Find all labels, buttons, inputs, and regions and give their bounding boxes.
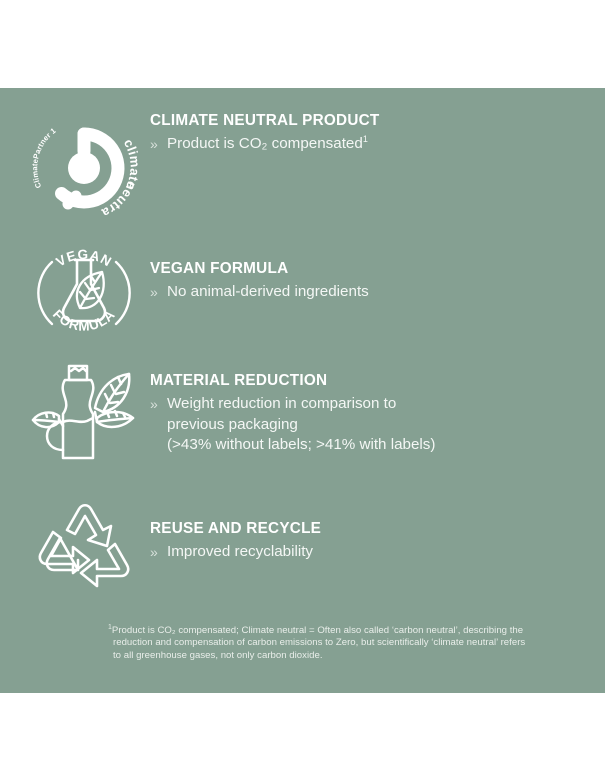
- bullet-marker-icon: »: [150, 542, 167, 563]
- claim-bullet: » Weight reduction in comparison to prev…: [150, 394, 435, 456]
- claim-row-vegan-formula: VEGAN FORMULA VEGAN FORMULA » No animal-…: [0, 236, 605, 348]
- climate-neutral-certificate-icon: ClimatePartner 14717-2005-1001 climate n…: [26, 110, 142, 226]
- climate-partner-id-text: ClimatePartner 14717-2005-1001: [26, 110, 58, 190]
- footnote-reference: 1: [363, 134, 368, 144]
- claim-bullet-text-line-2: previous packaging: [167, 415, 435, 436]
- claim-bullet-text-line-3: (>43% without labels; >41% with labels): [167, 435, 435, 456]
- claim-bullet: » Improved recyclability: [150, 542, 321, 563]
- claim-bullet-body: Improved recyclability: [167, 542, 313, 563]
- claim-row-reuse-recycle: REUSE AND RECYCLE » Improved recyclabili…: [0, 500, 605, 596]
- claim-bullet-body: Product is CO₂ compensated1: [167, 134, 368, 155]
- footnote-line-2: reduction and compensation of carbon emi…: [108, 637, 570, 649]
- claim-heading: CLIMATE NEUTRAL PRODUCT: [150, 112, 380, 130]
- sustainability-claims-panel: ClimatePartner 14717-2005-1001 climate n…: [0, 88, 605, 693]
- icon-cell-climate-neutral: ClimatePartner 14717-2005-1001 climate n…: [0, 110, 150, 226]
- claim-bullet-body: No animal-derived ingredients: [167, 282, 369, 303]
- text-cell-reuse-recycle: REUSE AND RECYCLE » Improved recyclabili…: [150, 500, 321, 563]
- text-cell-climate-neutral: CLIMATE NEUTRAL PRODUCT » Product is CO₂…: [150, 110, 380, 155]
- claim-bullet-text-line-1: Weight reduction in comparison to: [167, 394, 435, 415]
- vegan-arc-text: VEGAN: [53, 247, 114, 270]
- bullet-marker-icon: »: [150, 282, 167, 303]
- claim-heading: REUSE AND RECYCLE: [150, 520, 321, 538]
- recycling-triangle-icon: [29, 500, 139, 596]
- footnote-line-1: 1Product is CO₂ compensated; Climate neu…: [108, 625, 570, 637]
- claim-heading: VEGAN FORMULA: [150, 260, 369, 278]
- svg-text:ClimatePartner 14717-2005-1001: ClimatePartner 14717-2005-1001: [26, 110, 58, 190]
- svg-text:VEGAN: VEGAN: [53, 247, 114, 270]
- claim-bullet-text: No animal-derived ingredients: [167, 283, 369, 300]
- svg-text:FORMULA: FORMULA: [50, 307, 118, 334]
- claim-bullet-text: Product is CO₂ compensated: [167, 135, 363, 152]
- claim-bullet-body: Weight reduction in comparison to previo…: [167, 394, 435, 456]
- vegan-formula-flask-icon: VEGAN FORMULA: [28, 236, 140, 348]
- claim-row-material-reduction: MATERIAL REDUCTION » Weight reduction in…: [0, 360, 605, 468]
- claim-bullet: » No animal-derived ingredients: [150, 282, 369, 303]
- icon-cell-reuse-recycle: [0, 500, 150, 596]
- text-cell-material-reduction: MATERIAL REDUCTION » Weight reduction in…: [150, 360, 435, 456]
- bullet-marker-icon: »: [150, 394, 167, 456]
- claim-bullet-text: Improved recyclability: [167, 543, 313, 560]
- icon-cell-vegan-formula: VEGAN FORMULA: [0, 236, 150, 348]
- claim-row-climate-neutral: ClimatePartner 14717-2005-1001 climate n…: [0, 110, 605, 226]
- bullet-marker-icon: »: [150, 134, 167, 155]
- footnote-line-1-text: Product is CO₂ compensated; Climate neut…: [112, 625, 523, 636]
- icon-cell-material-reduction: [0, 360, 150, 468]
- text-cell-vegan-formula: VEGAN FORMULA » No animal-derived ingred…: [150, 236, 369, 303]
- formula-arc-text: FORMULA: [50, 307, 118, 334]
- claim-bullet: » Product is CO₂ compensated1: [150, 134, 380, 155]
- bottle-with-leaves-icon: [25, 360, 143, 468]
- footnote-block: 1Product is CO₂ compensated; Climate neu…: [108, 625, 570, 662]
- claim-heading: MATERIAL REDUCTION: [150, 372, 435, 390]
- footnote-line-3: to all greenhouse gases, not only carbon…: [108, 650, 570, 662]
